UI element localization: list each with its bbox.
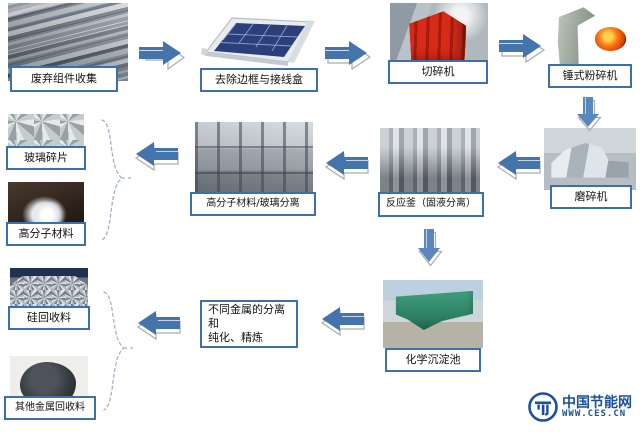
node-label-othermetal: 其他金属回收料: [4, 396, 96, 420]
node-label-silicon: 硅回收料: [8, 306, 90, 330]
node-label-shredder: 切碎机: [388, 60, 488, 84]
connector-glass-polymer-brace: [92, 116, 134, 244]
connector-silicon-metal-brace: [94, 288, 136, 414]
node-label-precipitation: 化学沉淀池: [385, 348, 481, 372]
node-label-refining: 不同金属的分离和 纯化、精炼: [200, 300, 298, 348]
arrow-refining-to-metal-products: [136, 310, 182, 336]
hammer-rotor-icon: [595, 27, 627, 51]
node-label-polymer: 高分子材料: [6, 222, 86, 246]
refining-label-line2: 纯化、精炼: [208, 331, 290, 345]
flowchart-canvas: 废弃组件收集 去除边框与接: [0, 0, 640, 432]
arrow-reactor-to-precipitation: [416, 228, 442, 266]
watermark-url: WWW.CES.CN: [562, 410, 632, 419]
node-label-deframe: 去除边框与接线盒: [200, 68, 318, 92]
watermark-site-name: 中国节能网: [562, 396, 632, 410]
node-label-mill: 磨碎机: [550, 185, 632, 209]
node-image-mill: [544, 128, 636, 190]
node-image-reactor: [380, 128, 480, 200]
arrow-mill-to-reactor: [496, 150, 542, 176]
arrow-precipitation-to-refining: [320, 306, 366, 332]
watermark-text: 中国节能网 WWW.CES.CN: [562, 396, 632, 419]
node-label-separation: 高分子材料/玻璃分离: [190, 192, 316, 216]
node-image-precipitation: [383, 280, 483, 348]
watermark: 中国节能网 WWW.CES.CN: [528, 392, 632, 422]
arrow-hammer-to-mill: [575, 96, 601, 130]
node-label-reactor: 反应釜（固液分离）: [378, 192, 484, 217]
node-label-glass: 玻璃碎片: [6, 146, 86, 170]
refining-label-line1: 不同金属的分离和: [208, 303, 290, 331]
ces-logo-icon: [528, 392, 558, 422]
arrow-collect-to-deframe: [137, 40, 183, 66]
node-image-deframe: [196, 8, 320, 74]
node-label-hammer: 锤式粉碎机: [548, 64, 632, 88]
node-image-separation: [195, 122, 313, 200]
arrow-separation-to-products: [134, 141, 180, 167]
arrow-shredder-to-hammer: [497, 33, 543, 59]
arrow-reactor-to-separation: [324, 150, 370, 176]
arrow-deframe-to-shredder: [323, 40, 369, 66]
node-image-hammer: [540, 3, 634, 73]
node-label-collect: 废弃组件收集: [10, 66, 118, 92]
